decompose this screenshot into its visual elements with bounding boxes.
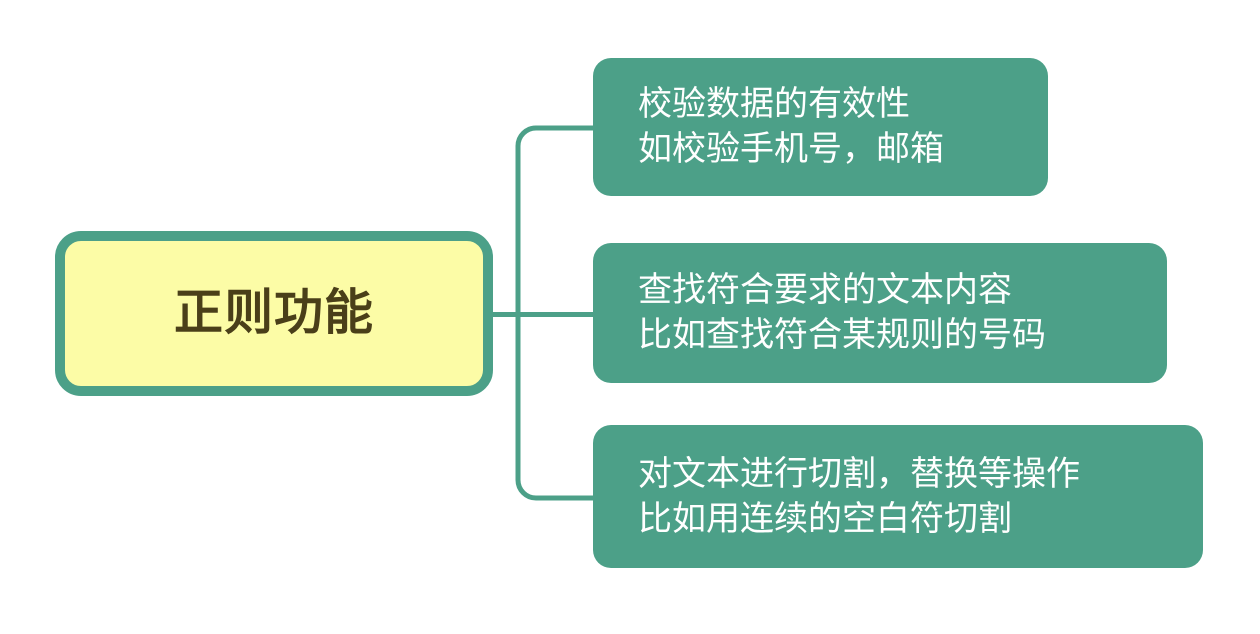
- mindmap-canvas: 正则功能 校验数据的有效性 如校验手机号，邮箱 查找符合要求的文本内容 比如查找…: [0, 0, 1260, 634]
- branch-node-line: 查找符合要求的文本内容: [638, 268, 1167, 313]
- branch-node-validate[interactable]: 校验数据的有效性 如校验手机号，邮箱: [593, 58, 1048, 196]
- branch-node-search[interactable]: 查找符合要求的文本内容 比如查找符合某规则的号码: [593, 243, 1167, 383]
- branch-node-line: 对文本进行切割，替换等操作: [638, 452, 1203, 497]
- connector-branch-2: [518, 480, 596, 498]
- branch-node-split-replace[interactable]: 对文本进行切割，替换等操作 比如用连续的空白符切割: [593, 425, 1203, 568]
- connector-branch-0: [518, 128, 596, 146]
- branch-node-line: 比如用连续的空白符切割: [638, 497, 1203, 542]
- branch-node-line: 校验数据的有效性: [638, 82, 1048, 127]
- root-node-label: 正则功能: [174, 287, 374, 341]
- branch-node-line: 比如查找符合某规则的号码: [638, 313, 1167, 358]
- branch-node-line: 如校验手机号，邮箱: [638, 127, 1048, 172]
- root-node[interactable]: 正则功能: [55, 231, 493, 396]
